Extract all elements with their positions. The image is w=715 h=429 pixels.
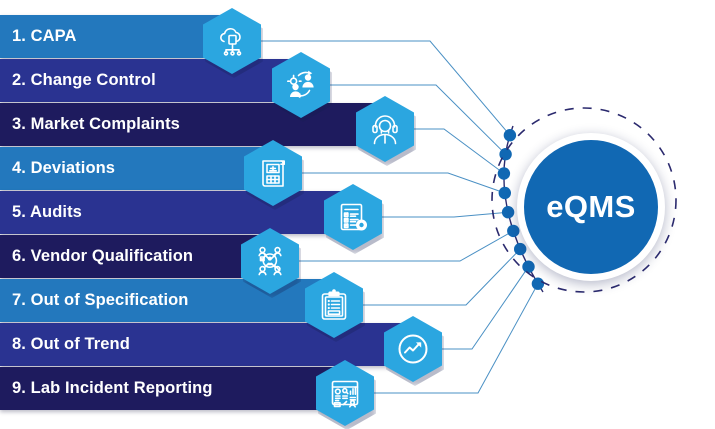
module-bar-label: 2. Change Control <box>0 71 156 90</box>
document-chart-icon <box>256 156 290 190</box>
clipboard-checklist-icon <box>317 288 351 322</box>
module-bar-label: 6. Vendor Qualification <box>0 247 193 266</box>
vendor-magnifier-people-icon <box>253 244 287 278</box>
module-bar[interactable]: 6. Vendor Qualification <box>0 235 266 278</box>
eqms-diagram: 1. CAPA2. Change Control3. Market Compla… <box>0 0 715 429</box>
cloud-network-icon <box>215 24 249 58</box>
module-bar-label: 7. Out of Specification <box>0 291 188 310</box>
module-bar-label: 9. Lab Incident Reporting <box>0 379 213 398</box>
module-bar[interactable]: 5. Audits <box>0 191 350 234</box>
module-bar[interactable]: 9. Lab Incident Reporting <box>0 367 340 410</box>
module-bar-label: 5. Audits <box>0 203 82 222</box>
module-bar-label: 1. CAPA <box>0 27 77 46</box>
headset-support-icon <box>368 112 402 146</box>
connector-line <box>302 173 505 193</box>
trend-arrow-circle-icon <box>395 331 431 367</box>
audit-checklist-gear-icon <box>336 200 370 234</box>
eqms-center-label: eQMS <box>546 189 635 225</box>
module-bar-label: 4. Deviations <box>0 159 115 178</box>
change-people-gear-icon <box>284 68 318 102</box>
eqms-center-circle[interactable]: eQMS <box>517 133 665 281</box>
module-bar-label: 3. Market Complaints <box>0 115 180 134</box>
module-bar[interactable]: 4. Deviations <box>0 147 272 190</box>
lab-dashboard-icon <box>328 376 362 410</box>
module-bar[interactable]: 1. CAPA <box>0 15 232 58</box>
module-bar-label: 8. Out of Trend <box>0 335 130 354</box>
